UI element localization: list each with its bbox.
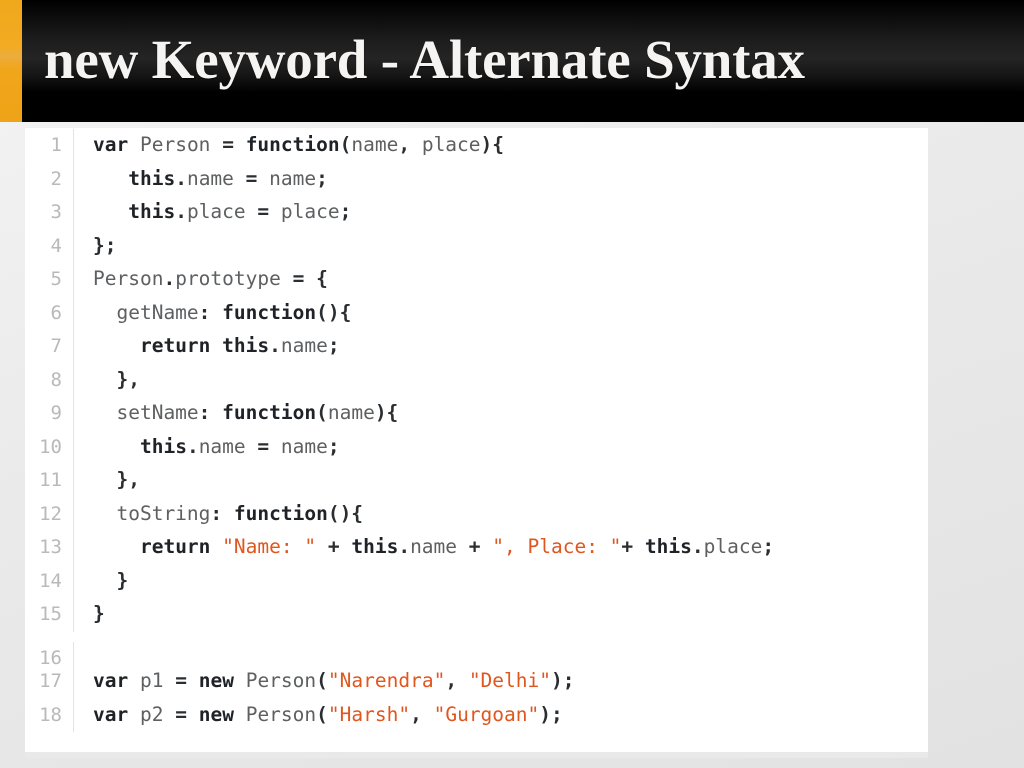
code-token-space bbox=[93, 401, 116, 424]
code-token-space bbox=[93, 368, 116, 391]
code-token-keyword: this bbox=[645, 535, 692, 558]
code-token-string: "Delhi" bbox=[469, 669, 551, 692]
code-token-space bbox=[246, 200, 258, 223]
code-token-keyword: var bbox=[93, 703, 128, 726]
code-line-text[interactable]: getName: function(){ bbox=[74, 296, 928, 330]
line-number: 1 bbox=[25, 129, 74, 163]
code-token-space bbox=[234, 669, 246, 692]
code-line-text[interactable]: } bbox=[74, 597, 928, 631]
code-line-text[interactable]: } bbox=[74, 564, 928, 598]
line-number: 2 bbox=[25, 163, 74, 197]
code-token-identifier: name bbox=[410, 535, 457, 558]
code-token-keyword: this bbox=[128, 200, 175, 223]
code-token-identifier: setName bbox=[116, 401, 198, 424]
code-token-space bbox=[93, 334, 140, 357]
code-token-keyword: this bbox=[128, 167, 175, 190]
code-token-keyword: this bbox=[140, 435, 187, 458]
code-token-space bbox=[93, 535, 140, 558]
code-line-text[interactable]: this.name = name; bbox=[74, 162, 928, 196]
code-token-punct: ( bbox=[316, 703, 328, 726]
code-token-space bbox=[316, 535, 328, 558]
code-token-punct: ; bbox=[328, 435, 340, 458]
code-token-space bbox=[269, 435, 281, 458]
code-line: 4}; bbox=[25, 229, 928, 263]
code-token-space bbox=[93, 502, 116, 525]
code-line-text[interactable]: this.place = place; bbox=[74, 195, 928, 229]
code-token-punct: ( bbox=[316, 401, 328, 424]
code-line: 2 this.name = name; bbox=[25, 162, 928, 196]
code-token-punct: . bbox=[175, 167, 187, 190]
code-token-keyword: return bbox=[140, 535, 210, 558]
code-token-string: ", Place: " bbox=[492, 535, 621, 558]
code-token-punct: ); bbox=[551, 669, 574, 692]
code-token-string: "Narendra" bbox=[328, 669, 445, 692]
code-token-punct: : bbox=[210, 502, 222, 525]
code-token-identifier: name bbox=[269, 167, 316, 190]
code-line-text[interactable]: var Person = function(name, place){ bbox=[74, 128, 928, 162]
code-line-text[interactable]: this.name = name; bbox=[74, 430, 928, 464]
code-line: 17var p1 = new Person("Narendra", "Delhi… bbox=[25, 664, 928, 698]
line-number: 10 bbox=[25, 431, 74, 465]
code-line: 8 }, bbox=[25, 363, 928, 397]
code-token-identifier: place bbox=[422, 133, 481, 156]
code-token-space bbox=[410, 133, 422, 156]
code-token-space bbox=[163, 703, 175, 726]
code-token-space bbox=[93, 468, 116, 491]
code-token-keyword: function bbox=[222, 401, 316, 424]
code-token-punct: = bbox=[293, 267, 305, 290]
code-token-punct: }; bbox=[93, 234, 116, 257]
code-token-identifier: place bbox=[187, 200, 246, 223]
code-token-punct: ; bbox=[328, 334, 340, 357]
line-number: 14 bbox=[25, 565, 74, 599]
line-number: 6 bbox=[25, 297, 74, 331]
panel-bottom-strip bbox=[25, 752, 928, 758]
code-token-identifier: place bbox=[281, 200, 340, 223]
code-token-identifier: Person bbox=[246, 669, 316, 692]
code-token-punct: . bbox=[692, 535, 704, 558]
code-line-text[interactable]: var p1 = new Person("Narendra", "Delhi")… bbox=[74, 664, 928, 698]
code-token-string: "Gurgoan" bbox=[434, 703, 540, 726]
code-token-punct: = bbox=[175, 703, 187, 726]
slide-header: new Keyword - Alternate Syntax bbox=[0, 0, 1024, 122]
code-token-space bbox=[281, 267, 293, 290]
code-token-punct: , bbox=[410, 703, 422, 726]
code-token-space bbox=[234, 703, 246, 726]
code-line-text[interactable]: Person.prototype = { bbox=[74, 262, 928, 296]
code-token-punct: . bbox=[398, 535, 410, 558]
code-line-text[interactable]: }; bbox=[74, 229, 928, 263]
code-token-space bbox=[234, 133, 246, 156]
code-token-identifier: prototype bbox=[175, 267, 281, 290]
code-token-punct: . bbox=[175, 200, 187, 223]
code-token-space bbox=[93, 435, 140, 458]
code-token-keyword: function bbox=[246, 133, 340, 156]
code-line: 15} bbox=[25, 597, 928, 631]
code-token-punct: { bbox=[316, 267, 328, 290]
code-line-text[interactable]: }, bbox=[74, 463, 928, 497]
code-token-space bbox=[457, 535, 469, 558]
code-token-space bbox=[93, 200, 128, 223]
code-token-identifier: Person bbox=[140, 133, 210, 156]
code-token-punct: + bbox=[328, 535, 340, 558]
code-line-text[interactable]: var p2 = new Person("Harsh", "Gurgoan"); bbox=[74, 698, 928, 732]
code-token-punct: }, bbox=[116, 368, 139, 391]
code-token-identifier: Person bbox=[93, 267, 163, 290]
accent-bar bbox=[0, 0, 22, 122]
code-token-punct: . bbox=[187, 435, 199, 458]
code-line: 3 this.place = place; bbox=[25, 195, 928, 229]
code-token-string: "Harsh" bbox=[328, 703, 410, 726]
line-number: 17 bbox=[25, 665, 74, 699]
title-bar: new Keyword - Alternate Syntax bbox=[22, 0, 1024, 122]
code-token-space bbox=[163, 669, 175, 692]
code-token-space bbox=[246, 435, 258, 458]
code-token-punct: + bbox=[469, 535, 481, 558]
page-title: new Keyword - Alternate Syntax bbox=[44, 28, 805, 91]
line-number: 9 bbox=[25, 397, 74, 431]
code-token-keyword: function bbox=[234, 502, 328, 525]
line-number: 5 bbox=[25, 263, 74, 297]
code-token-identifier: name bbox=[281, 435, 328, 458]
code-token-identifier: p1 bbox=[140, 669, 163, 692]
code-token-punct: : bbox=[199, 401, 211, 424]
code-token-space bbox=[210, 334, 222, 357]
code-token-punct: } bbox=[116, 569, 128, 592]
code-token-space bbox=[210, 401, 222, 424]
code-line: 9 setName: function(name){ bbox=[25, 396, 928, 430]
code-token-space bbox=[187, 703, 199, 726]
code-line-text[interactable] bbox=[74, 631, 928, 665]
code-token-identifier: name bbox=[281, 334, 328, 357]
code-token-identifier: toString bbox=[116, 502, 210, 525]
code-token-identifier: place bbox=[704, 535, 763, 558]
code-token-punct: . bbox=[163, 267, 175, 290]
code-line-text[interactable]: setName: function(name){ bbox=[74, 396, 928, 430]
code-token-punct: , bbox=[445, 669, 457, 692]
code-token-punct: } bbox=[93, 602, 105, 625]
code-line-text[interactable]: return this.name; bbox=[74, 329, 928, 363]
code-token-space bbox=[481, 535, 493, 558]
line-number: 11 bbox=[25, 464, 74, 498]
code-token-space bbox=[422, 703, 434, 726]
code-token-keyword: this bbox=[351, 535, 398, 558]
code-token-identifier: name bbox=[187, 167, 234, 190]
line-number: 7 bbox=[25, 330, 74, 364]
code-token-identifier: Person bbox=[246, 703, 316, 726]
code-line: 12 toString: function(){ bbox=[25, 497, 928, 531]
code-line-text[interactable]: return "Name: " + this.name + ", Place: … bbox=[74, 530, 928, 564]
code-token-space bbox=[304, 267, 316, 290]
code-token-keyword: var bbox=[93, 133, 128, 156]
code-line: 11 }, bbox=[25, 463, 928, 497]
line-number: 8 bbox=[25, 364, 74, 398]
code-token-punct: ){ bbox=[481, 133, 504, 156]
code-line: 18var p2 = new Person("Harsh", "Gurgoan"… bbox=[25, 698, 928, 732]
code-token-space bbox=[93, 301, 116, 324]
code-line: 10 this.name = name; bbox=[25, 430, 928, 464]
code-token-punct: (){ bbox=[316, 301, 351, 324]
code-token-space bbox=[93, 569, 116, 592]
code-token-punct: ( bbox=[316, 669, 328, 692]
line-number: 13 bbox=[25, 531, 74, 565]
code-token-keyword: new bbox=[199, 669, 234, 692]
code-token-punct: . bbox=[269, 334, 281, 357]
code-token-punct: = bbox=[257, 435, 269, 458]
code-token-space bbox=[187, 669, 199, 692]
code-line: 16 bbox=[25, 631, 928, 665]
code-line: 1var Person = function(name, place){ bbox=[25, 128, 928, 162]
code-line: 13 return "Name: " + this.name + ", Plac… bbox=[25, 530, 928, 564]
code-token-punct: ){ bbox=[375, 401, 398, 424]
code-line: 14 } bbox=[25, 564, 928, 598]
code-token-space bbox=[128, 669, 140, 692]
code-panel: 1var Person = function(name, place){2 th… bbox=[25, 128, 928, 752]
slide: new Keyword - Alternate Syntax 1var Pers… bbox=[0, 0, 1024, 768]
code-token-keyword: this bbox=[222, 334, 269, 357]
code-token-keyword: function bbox=[222, 301, 316, 324]
code-token-punct: = bbox=[257, 200, 269, 223]
code-token-keyword: var bbox=[93, 669, 128, 692]
code-token-punct: = bbox=[222, 133, 234, 156]
line-number: 3 bbox=[25, 196, 74, 230]
code-token-space bbox=[210, 535, 222, 558]
code-token-space bbox=[340, 535, 352, 558]
code-token-keyword: return bbox=[140, 334, 210, 357]
code-token-punct: ); bbox=[539, 703, 562, 726]
code-token-space bbox=[210, 301, 222, 324]
code-token-punct: ; bbox=[316, 167, 328, 190]
code-line: 5Person.prototype = { bbox=[25, 262, 928, 296]
code-listing: 1var Person = function(name, place){2 th… bbox=[25, 128, 928, 752]
code-token-identifier: name bbox=[328, 401, 375, 424]
code-token-punct: + bbox=[621, 535, 633, 558]
code-token-space bbox=[633, 535, 645, 558]
code-token-identifier: getName bbox=[116, 301, 198, 324]
code-token-space bbox=[457, 669, 469, 692]
code-token-punct: = bbox=[246, 167, 258, 190]
code-token-punct: , bbox=[398, 133, 410, 156]
code-token-keyword: new bbox=[199, 703, 234, 726]
code-line-text[interactable]: toString: function(){ bbox=[74, 497, 928, 531]
code-token-punct: = bbox=[175, 669, 187, 692]
code-token-punct: ; bbox=[340, 200, 352, 223]
code-token-punct: (){ bbox=[328, 502, 363, 525]
line-number: 12 bbox=[25, 498, 74, 532]
code-token-identifier: p2 bbox=[140, 703, 163, 726]
code-token-string: "Name: " bbox=[222, 535, 316, 558]
code-line: 7 return this.name; bbox=[25, 329, 928, 363]
code-token-space bbox=[269, 200, 281, 223]
code-token-space bbox=[222, 502, 234, 525]
code-token-space bbox=[234, 167, 246, 190]
line-number: 18 bbox=[25, 699, 74, 733]
line-number: 15 bbox=[25, 598, 74, 632]
code-token-punct: ( bbox=[340, 133, 352, 156]
code-token-space bbox=[93, 167, 128, 190]
code-token-space bbox=[128, 703, 140, 726]
code-token-punct: ; bbox=[762, 535, 774, 558]
code-token-space bbox=[257, 167, 269, 190]
code-token-space bbox=[128, 133, 140, 156]
code-token-identifier: name bbox=[199, 435, 246, 458]
line-number: 4 bbox=[25, 230, 74, 264]
code-token-punct: : bbox=[199, 301, 211, 324]
code-token-identifier: name bbox=[351, 133, 398, 156]
code-line-text[interactable]: }, bbox=[74, 363, 928, 397]
code-line: 6 getName: function(){ bbox=[25, 296, 928, 330]
code-token-space bbox=[210, 133, 222, 156]
code-token-punct: }, bbox=[116, 468, 139, 491]
